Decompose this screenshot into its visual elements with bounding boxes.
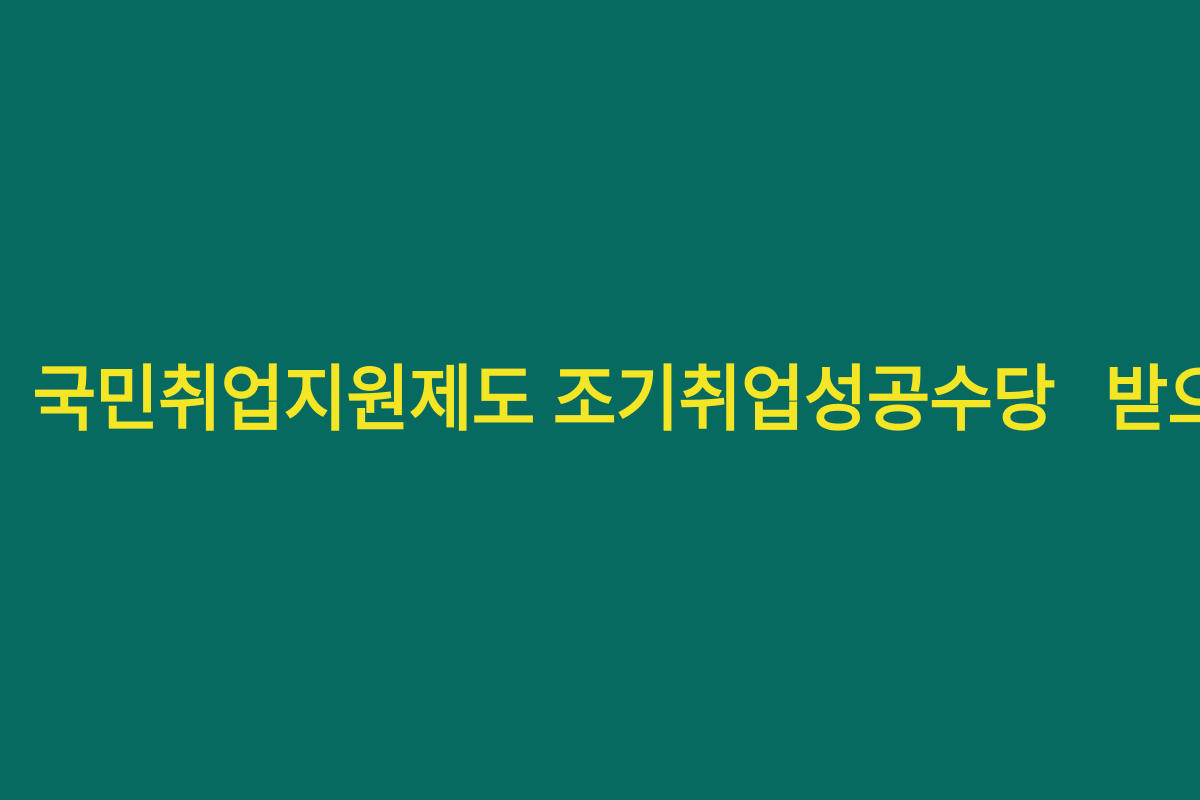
headline-line-1: 국민취업지원제도 조기취업성공수당 <box>33 355 1055 446</box>
banner-canvas: 국민취업지원제도 조기취업성공수당 받으세요! 꼭 필요한 조건과 신청법 공개… <box>0 0 1200 800</box>
headline-line-2: 받으세요! 꼭 <box>1105 355 1200 446</box>
page-title: 국민취업지원제도 조기취업성공수당 받으세요! 꼭 필요한 조건과 신청법 공개… <box>10 355 1190 446</box>
